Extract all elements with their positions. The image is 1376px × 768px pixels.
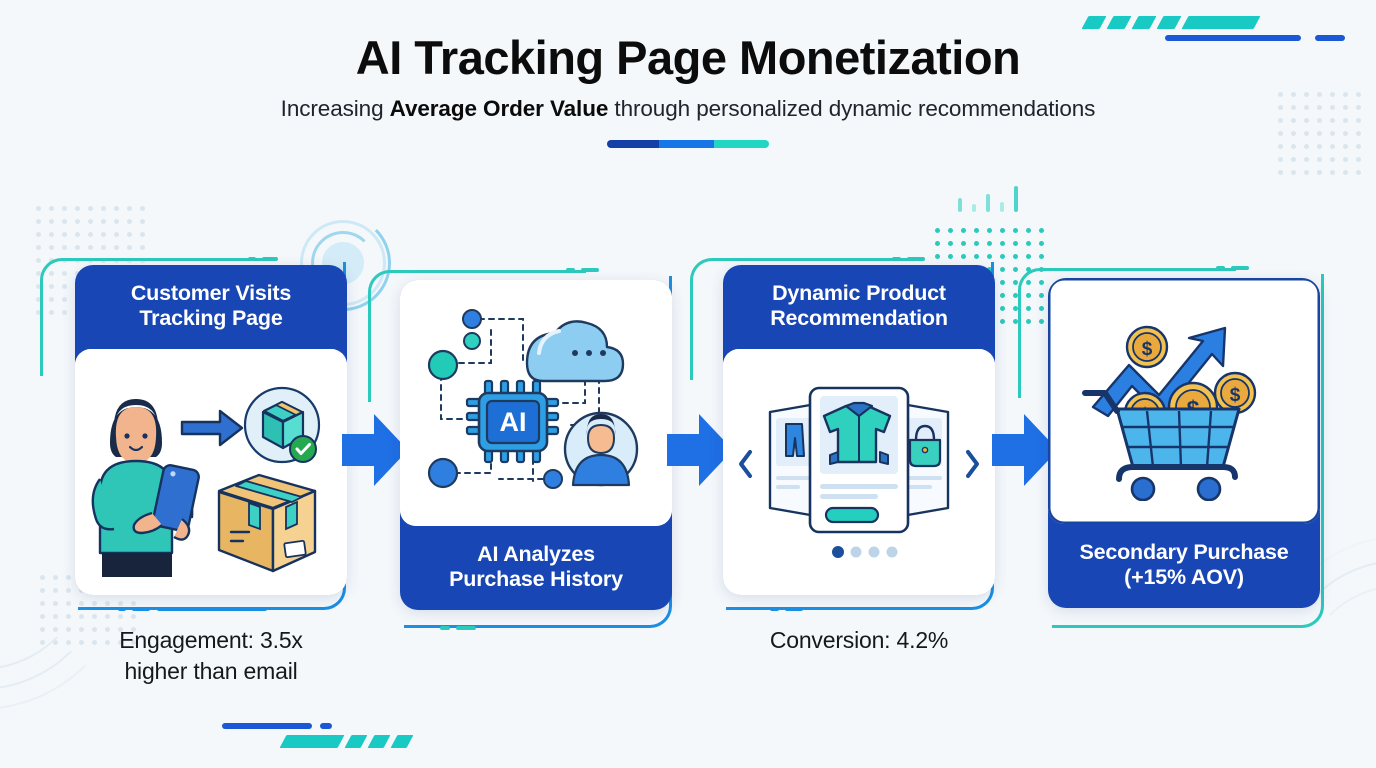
frame-dash bbox=[118, 607, 126, 611]
coin: $ bbox=[1127, 327, 1167, 367]
svg-text:$: $ bbox=[1142, 339, 1153, 360]
customer-phone-package-icon bbox=[86, 367, 336, 577]
frame-dash bbox=[157, 607, 267, 611]
frame-dash bbox=[456, 626, 476, 630]
label-line-1: Dynamic Product bbox=[735, 281, 983, 306]
ai-chip-cloud-user-icon: AI bbox=[423, 303, 649, 503]
subtitle-part-1: Increasing bbox=[281, 96, 390, 121]
label-line-1: AI Analyzes bbox=[412, 542, 660, 567]
frame-dash bbox=[892, 257, 901, 261]
flow-card-art-step-1 bbox=[75, 349, 347, 595]
accent-divider-bar bbox=[607, 140, 769, 148]
chevron-right-icon bbox=[968, 452, 977, 476]
carousel-dot bbox=[851, 547, 862, 558]
frame-dash bbox=[248, 257, 256, 261]
flow-card-step-2[interactable]: AI Analyzes Purchase History bbox=[400, 280, 672, 610]
frame-dash bbox=[770, 607, 779, 611]
process-flow: Customer Visits Tracking Page bbox=[0, 250, 1376, 650]
subtitle-emphasis: Average Order Value bbox=[390, 96, 609, 121]
carousel-dot-active bbox=[832, 546, 844, 558]
flow-card-label-step-3: Dynamic Product Recommendation bbox=[723, 265, 995, 349]
caption-line-2: higher than email bbox=[75, 656, 347, 687]
flow-card-step-4[interactable]: Secondary Purchase (+15% AOV) $ bbox=[1048, 278, 1320, 608]
frame-dash bbox=[262, 257, 278, 261]
chip-label: AI bbox=[500, 407, 527, 437]
label-line-2: Recommendation bbox=[735, 306, 983, 331]
flow-card-step-1[interactable]: Customer Visits Tracking Page bbox=[75, 265, 347, 595]
frame-dash bbox=[581, 268, 599, 272]
flow-card-label-step-4: Secondary Purchase (+15% AOV) bbox=[1048, 524, 1320, 608]
frame-dash bbox=[1216, 266, 1225, 270]
label-line-2: Purchase History bbox=[412, 567, 660, 592]
label-line-2: Tracking Page bbox=[87, 306, 335, 331]
flow-card-art-step-4: $ $ $ $ bbox=[1048, 278, 1320, 524]
svg-text:$: $ bbox=[1230, 385, 1241, 406]
carousel-dot bbox=[887, 547, 898, 558]
page-header: AI Tracking Page Monetization Increasing… bbox=[0, 34, 1376, 148]
flow-card-label-step-1: Customer Visits Tracking Page bbox=[75, 265, 347, 349]
page-subtitle: Increasing Average Order Value through p… bbox=[0, 96, 1376, 122]
subtitle-part-2: through personalized dynamic recommendat… bbox=[608, 96, 1095, 121]
label-line-2: (+15% AOV) bbox=[1060, 565, 1308, 590]
frame-dash bbox=[132, 607, 150, 611]
caption-line-1: Engagement: 3.5x bbox=[75, 625, 347, 656]
flow-card-art-step-2: AI bbox=[400, 280, 672, 526]
coin: $ bbox=[1215, 373, 1255, 413]
frame-dash bbox=[1231, 266, 1249, 270]
flow-card-art-step-3 bbox=[723, 349, 995, 595]
caption-conversion: Conversion: 4.2% bbox=[723, 625, 995, 656]
caption-engagement: Engagement: 3.5x higher than email bbox=[75, 625, 347, 687]
label-line-1: Customer Visits bbox=[87, 281, 335, 306]
label-line-1: Secondary Purchase bbox=[1060, 540, 1308, 565]
chevron-left-icon bbox=[741, 452, 750, 476]
frame-dash bbox=[907, 257, 925, 261]
flow-card-step-3[interactable]: Dynamic Product Recommendation bbox=[723, 265, 995, 595]
carousel-dot bbox=[869, 547, 880, 558]
product-carousel-icon bbox=[734, 372, 984, 572]
caption-line-1: Conversion: 4.2% bbox=[723, 625, 995, 656]
frame-dash bbox=[440, 626, 450, 630]
flow-card-label-step-2: AI Analyzes Purchase History bbox=[400, 526, 672, 610]
page-title: AI Tracking Page Monetization bbox=[0, 34, 1376, 83]
frame-dash bbox=[785, 607, 803, 611]
frame-dash bbox=[566, 268, 575, 272]
cart-coins-growth-arrow-icon: $ $ $ $ bbox=[1069, 301, 1299, 501]
infographic-canvas: AI Tracking Page Monetization Increasing… bbox=[0, 0, 1376, 768]
